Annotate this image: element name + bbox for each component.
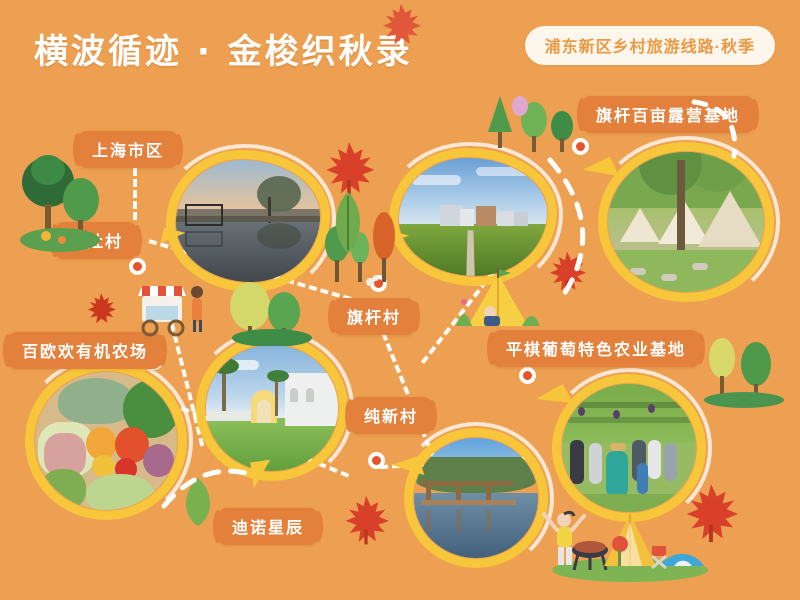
route-segment-camp-loop bbox=[585, 122, 705, 126]
route-node-dot bbox=[133, 262, 142, 271]
route-node-chunxin[interactable] bbox=[368, 452, 385, 469]
photo-qigan-camp bbox=[608, 152, 764, 292]
grass-icon bbox=[700, 330, 790, 410]
maple-leaf-icon bbox=[340, 492, 392, 548]
bubble-tail bbox=[137, 352, 168, 380]
photo-bubble-qigan-camp[interactable] bbox=[608, 152, 764, 292]
page-title: 横波循迹 · 金梭织秋录 bbox=[34, 24, 413, 73]
orbit-arc-icon bbox=[690, 92, 790, 162]
maple-leaf-icon bbox=[84, 290, 118, 328]
tent-icon bbox=[452, 268, 544, 342]
route-segment-city-to-qizao bbox=[133, 168, 137, 220]
season-badge: 浦东新区乡村旅游线路·秋季 bbox=[525, 26, 775, 65]
photo-grape-vineyard bbox=[562, 384, 696, 512]
tree-icon bbox=[486, 92, 578, 164]
orbit-arc-icon bbox=[540, 150, 620, 310]
orbit-arc-icon bbox=[160, 448, 260, 518]
photo-bubble-chunxin-pavilion[interactable] bbox=[414, 438, 538, 558]
photo-chunxin-pavilion bbox=[414, 438, 538, 558]
route-node-dot bbox=[372, 456, 381, 465]
photo-qizao-riverside bbox=[176, 160, 320, 282]
leaf-icon bbox=[330, 190, 366, 256]
route-segment-camp-to-grape bbox=[368, 300, 435, 459]
photo-bubble-qizao-riverside[interactable] bbox=[176, 160, 320, 282]
photo-organic-veggies bbox=[35, 372, 177, 510]
tree-icon bbox=[18, 148, 104, 258]
camping-scene-icon bbox=[534, 500, 710, 584]
photo-bubble-grape-vineyard[interactable] bbox=[562, 384, 696, 512]
photo-bubble-organic-veggies[interactable] bbox=[35, 372, 177, 510]
food-cart-icon bbox=[134, 272, 230, 346]
photo-bubble-qigan-ricefield[interactable] bbox=[399, 158, 547, 276]
maple-leaf-icon bbox=[378, 0, 424, 50]
route-node-grape[interactable] bbox=[519, 367, 536, 384]
photo-qigan-ricefield bbox=[399, 158, 547, 276]
bush-icon bbox=[226, 276, 318, 346]
poster-canvas: 横波循迹 · 金梭织秋录 浦东新区乡村旅游线路·秋季 bbox=[0, 0, 800, 600]
route-node-dot bbox=[523, 371, 532, 380]
